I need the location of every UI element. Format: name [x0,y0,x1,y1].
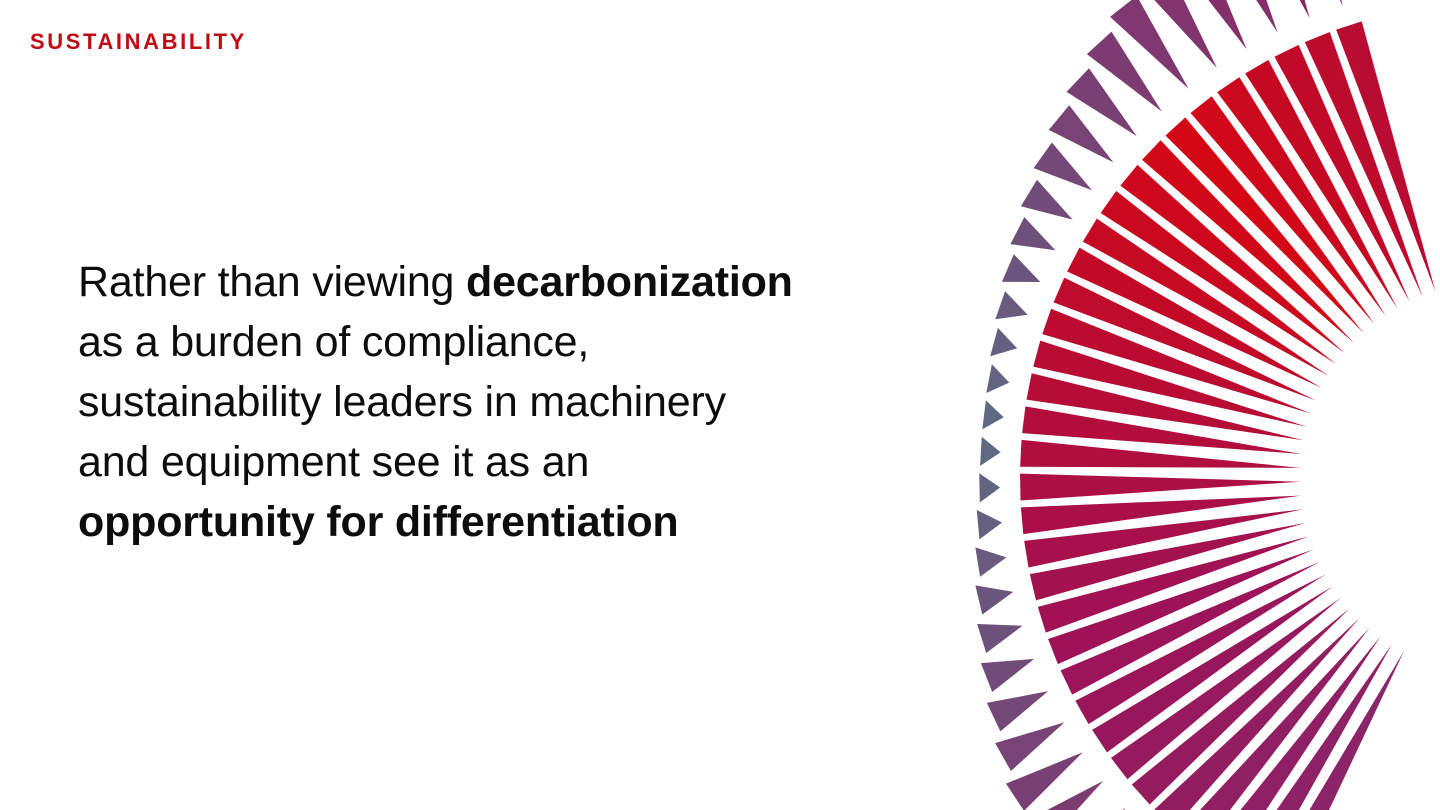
inner-wedge [1191,96,1375,324]
inner-wedge [1021,496,1301,535]
inner-wedge [1245,60,1397,309]
outer-wedge [1232,0,1309,18]
outer-wedge [1006,752,1083,810]
headline-line-5-bold: opportunity for differentiation [78,498,679,546]
headline-line-1: Rather than viewing decarbonization [78,252,958,312]
inner-wedge [1274,45,1409,302]
inner-wedge [1232,644,1392,810]
headline-line-3: sustainability leaders in machinery [78,372,958,432]
slide-canvas: SUSTAINABILITY Rather than viewing decar… [0,0,1440,810]
outer-wedge [995,291,1027,319]
outer-wedge [1049,105,1114,162]
inner-wedge [1179,628,1370,810]
headline-line-3-plain: sustainability leaders in machinery [78,378,726,426]
inner-wedge [1217,77,1386,316]
headline-line-1-bold: decarbonization [466,258,793,306]
outer-wedge [975,585,1013,614]
outer-wedge [977,510,1002,539]
inner-wedge [1165,117,1363,333]
outer-wedge [1020,781,1104,810]
inner-wedge [1101,191,1337,364]
inner-wedge [1092,586,1333,752]
outer-wedge [1021,180,1073,220]
outer-wedge [981,659,1034,692]
inner-wedge-ring [1020,21,1435,810]
outer-wedge [986,364,1009,393]
inner-wedge [1075,575,1325,725]
inner-wedge [1048,550,1313,665]
outer-wedge [979,473,1000,502]
outer-wedge [990,328,1017,356]
inner-wedge [1054,278,1316,401]
inner-wedge [1022,406,1301,454]
outer-wedge [1270,0,1342,6]
headline-line-1-plain: Rather than viewing [78,258,466,306]
inner-wedge [1042,309,1311,414]
outer-wedge [982,400,1003,429]
outer-wedge [1110,0,1188,89]
inner-wedge [1120,165,1344,353]
outer-wedge [987,691,1048,731]
inner-wedge [1111,598,1341,780]
outer-wedge-ring [975,0,1342,810]
headline-line-2: as a burden of compliance, [78,312,958,372]
inner-wedge [1030,523,1305,600]
inner-wedge [1261,651,1404,810]
headline-line-5: opportunity for differentiation [78,492,958,552]
outer-wedge [980,437,1001,466]
inner-wedge [1132,608,1350,804]
outer-wedge [975,547,1006,576]
inner-wedge [1142,140,1354,343]
inner-wedge [1024,509,1302,567]
inner-wedge [1336,21,1435,291]
headline-line-2-plain: as a burden of compliance, [78,318,589,366]
outer-wedge [1087,32,1162,112]
outer-wedge [995,722,1064,771]
inner-wedge [1205,636,1381,810]
headline-line-4: and equipment see it as an [78,432,958,492]
inner-wedge [1038,536,1309,632]
headline-text: Rather than viewing decarbonization as a… [78,252,958,552]
outer-wedge [1067,68,1137,136]
outer-wedge [1034,142,1092,190]
inner-wedge [1305,32,1423,296]
outer-wedge [1197,0,1277,33]
inner-wedge [1154,618,1359,810]
outer-wedge [1165,0,1246,49]
inner-wedge [1020,440,1300,468]
inner-wedge [1067,248,1322,388]
outer-wedge [1010,217,1055,250]
outer-wedge [1136,0,1217,68]
outer-wedge [977,624,1022,653]
outer-wedge [1002,254,1040,282]
headline-line-4-plain: and equipment see it as an [78,438,589,486]
page-title: SUSTAINABILITY [30,30,247,54]
inner-wedge [1033,341,1307,427]
inner-wedge [1083,219,1329,376]
inner-wedge [1061,562,1319,694]
inner-wedge [1026,373,1303,440]
inner-wedge [1020,474,1300,501]
